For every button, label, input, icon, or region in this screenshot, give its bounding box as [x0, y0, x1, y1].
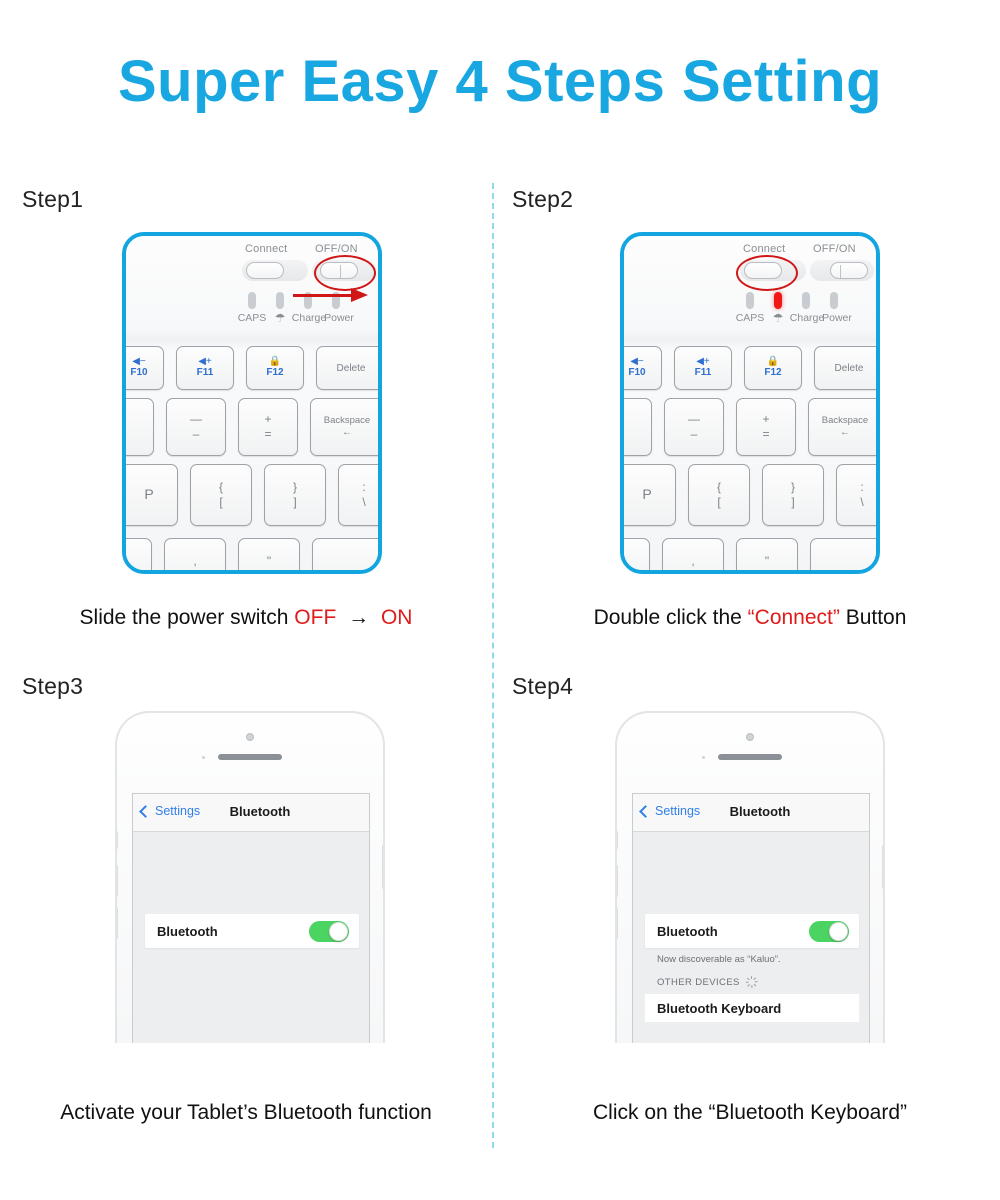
power-button[interactable] — [382, 845, 385, 889]
step-1-caption: Slide the power switch OFF → ON — [0, 606, 492, 630]
key-row2-partial[interactable] — [620, 398, 652, 456]
key-bracket-close[interactable]: } ] — [264, 464, 326, 526]
caption-seg-connect: “Connect” — [748, 606, 840, 629]
bluetooth-row-label: Bluetooth — [157, 924, 218, 939]
step-3-label: Step3 — [22, 673, 83, 700]
nav-bar: Settings Bluetooth — [633, 794, 869, 832]
offon-label: OFF/ON — [315, 243, 358, 255]
volume-down-button[interactable] — [615, 907, 618, 939]
key-backspace[interactable]: Backspace ← — [808, 398, 880, 456]
power-led — [830, 292, 838, 309]
keyboard-control-strip: Connect OFF/ON CAPS ☂ Charge Power — [126, 236, 378, 340]
key-f11[interactable]: ◀+F11 — [176, 346, 234, 390]
phone-screen: Settings Bluetooth Bluetooth — [132, 793, 370, 1043]
loading-spinner-icon — [746, 976, 758, 988]
step-2-caption: Double click the “Connect” Button — [500, 606, 1000, 630]
key-f12-lock[interactable]: 🔒F12 — [246, 346, 304, 390]
key-minus-underscore[interactable]: — – — [166, 398, 226, 456]
keyboard-keys: ◀−F10 ◀+F11 🔒F12 Delete — – + — [624, 340, 876, 574]
step-4-phone-photo: Settings Bluetooth Bluetooth Now discove… — [615, 711, 885, 1043]
key-plus-equals[interactable]: + = — [736, 398, 796, 456]
caps-led — [248, 292, 256, 309]
key-enter-partial[interactable] — [312, 538, 382, 574]
key-comma[interactable]: , — [164, 538, 226, 574]
charge-led — [802, 292, 810, 309]
earpiece-speaker-icon — [218, 754, 282, 760]
column-divider — [492, 183, 494, 1148]
step-4-label: Step4 — [512, 673, 573, 700]
step-3-caption: Activate your Tablet’s Bluetooth functio… — [0, 1101, 492, 1125]
caption-seg-button: Button — [840, 606, 907, 629]
step-4-cell: Step4 Settings Bluetooth Bluetooth — [500, 673, 1000, 1143]
earpiece-speaker-icon — [718, 754, 782, 760]
volume-down-button[interactable] — [115, 907, 118, 939]
offon-label: OFF/ON — [813, 243, 856, 255]
key-minus-underscore[interactable]: — – — [664, 398, 724, 456]
key-f10[interactable]: ◀−F10 — [620, 346, 662, 390]
step-1-keyboard-photo: Connect OFF/ON CAPS ☂ Charge Power — [122, 232, 382, 574]
volume-up-button[interactable] — [115, 865, 118, 897]
key-delete[interactable]: Delete — [316, 346, 382, 390]
phone-screen: Settings Bluetooth Bluetooth Now discove… — [632, 793, 870, 1043]
other-devices-label: OTHER DEVICES — [657, 977, 740, 988]
key-bracket-open[interactable]: { [ — [190, 464, 252, 526]
nav-title: Bluetooth — [133, 804, 369, 819]
caps-led — [746, 292, 754, 309]
power-button[interactable] — [882, 845, 885, 889]
silent-switch[interactable] — [115, 831, 118, 849]
step-2-keyboard-photo: Connect OFF/ON CAPS ☂ Charge Power — [620, 232, 880, 574]
front-camera-icon — [746, 733, 754, 741]
key-comma[interactable]: , — [662, 538, 724, 574]
keyboard-control-strip: Connect OFF/ON CAPS ☂ Charge Power — [624, 236, 876, 340]
step-3-phone-photo: Settings Bluetooth Bluetooth — [115, 711, 385, 1043]
connect-button[interactable] — [246, 262, 284, 279]
proximity-sensor-icon — [702, 756, 705, 759]
page-title: Super Easy 4 Steps Setting — [0, 52, 1000, 113]
annotation-arrow-slide-right — [293, 288, 369, 302]
bluetooth-toggle-row[interactable]: Bluetooth — [645, 914, 859, 948]
key-enter-partial[interactable] — [810, 538, 880, 574]
nav-bar: Settings Bluetooth — [133, 794, 369, 832]
key-plus-equals[interactable]: + = — [238, 398, 298, 456]
key-colon-backslash[interactable]: : \ — [836, 464, 880, 526]
other-devices-header: OTHER DEVICES — [657, 976, 758, 988]
step-4-caption: Click on the “Bluetooth Keyboard” — [500, 1101, 1000, 1125]
caption-seg-arrow: → — [336, 606, 381, 629]
power-led-label: Power — [318, 312, 360, 324]
step-1-cell: Step1 Connect OFF/ON CAPS ☂ Charge — [0, 186, 492, 646]
caption-seg: Slide the power switch — [80, 606, 295, 629]
power-led-label: Power — [816, 312, 858, 324]
silent-switch[interactable] — [615, 831, 618, 849]
caption-seg: Double click the — [594, 606, 748, 629]
key-row4-partial[interactable] — [122, 538, 152, 574]
annotation-ellipse-power-switch — [314, 255, 376, 291]
power-switch-knob-on[interactable] — [830, 262, 868, 279]
device-name-label: Bluetooth Keyboard — [657, 1001, 781, 1016]
key-quote[interactable]: " — [238, 538, 300, 574]
connect-label: Connect — [743, 243, 785, 255]
bluetooth-led — [276, 292, 284, 309]
key-delete[interactable]: Delete — [814, 346, 880, 390]
keyboard-keys: ◀−F10 ◀+F11 🔒F12 Delete — – + — [126, 340, 378, 574]
bluetooth-row-label: Bluetooth — [657, 924, 718, 939]
key-p[interactable]: P — [620, 464, 676, 526]
caption-seg-off: OFF — [294, 606, 336, 629]
keyboard-body: Connect OFF/ON CAPS ☂ Charge Power — [624, 236, 876, 570]
discoverable-text: Now discoverable as “Kaluo”. — [657, 954, 781, 965]
phone-top-bezel — [617, 713, 883, 787]
bluetooth-toggle[interactable] — [309, 921, 349, 942]
nav-title: Bluetooth — [633, 804, 869, 819]
key-row2-partial[interactable] — [122, 398, 154, 456]
front-camera-icon — [246, 733, 254, 741]
key-colon-backslash[interactable]: : \ — [338, 464, 382, 526]
key-quote[interactable]: " — [736, 538, 798, 574]
volume-up-button[interactable] — [615, 865, 618, 897]
step-2-label: Step2 — [512, 186, 573, 213]
connect-label: Connect — [245, 243, 287, 255]
key-bracket-close[interactable]: } ] — [762, 464, 824, 526]
bluetooth-led-lit — [774, 292, 782, 309]
key-backspace[interactable]: Backspace ← — [310, 398, 382, 456]
key-f10[interactable]: ◀−F10 — [122, 346, 164, 390]
bluetooth-keyboard-device-row[interactable]: Bluetooth Keyboard — [645, 994, 859, 1022]
step-1-label: Step1 — [22, 186, 83, 213]
step-2-cell: Step2 Connect OFF/ON CAPS ☂ Charge — [500, 186, 1000, 646]
key-f12-lock[interactable]: 🔒F12 — [744, 346, 802, 390]
key-row4-partial[interactable] — [620, 538, 650, 574]
proximity-sensor-icon — [202, 756, 205, 759]
phone-top-bezel — [117, 713, 383, 787]
bluetooth-toggle-row[interactable]: Bluetooth — [145, 914, 359, 948]
annotation-ellipse-connect-button — [736, 255, 798, 291]
key-p[interactable]: P — [122, 464, 178, 526]
caption-seg-on: ON — [381, 606, 413, 629]
bluetooth-toggle[interactable] — [809, 921, 849, 942]
step-3-cell: Step3 Settings Bluetooth Bluetooth — [0, 673, 492, 1143]
page-root: Super Easy 4 Steps Setting Step1 Connect… — [0, 0, 1000, 1200]
key-bracket-open[interactable]: { [ — [688, 464, 750, 526]
key-f11[interactable]: ◀+F11 — [674, 346, 732, 390]
keyboard-body: Connect OFF/ON CAPS ☂ Charge Power — [126, 236, 378, 570]
